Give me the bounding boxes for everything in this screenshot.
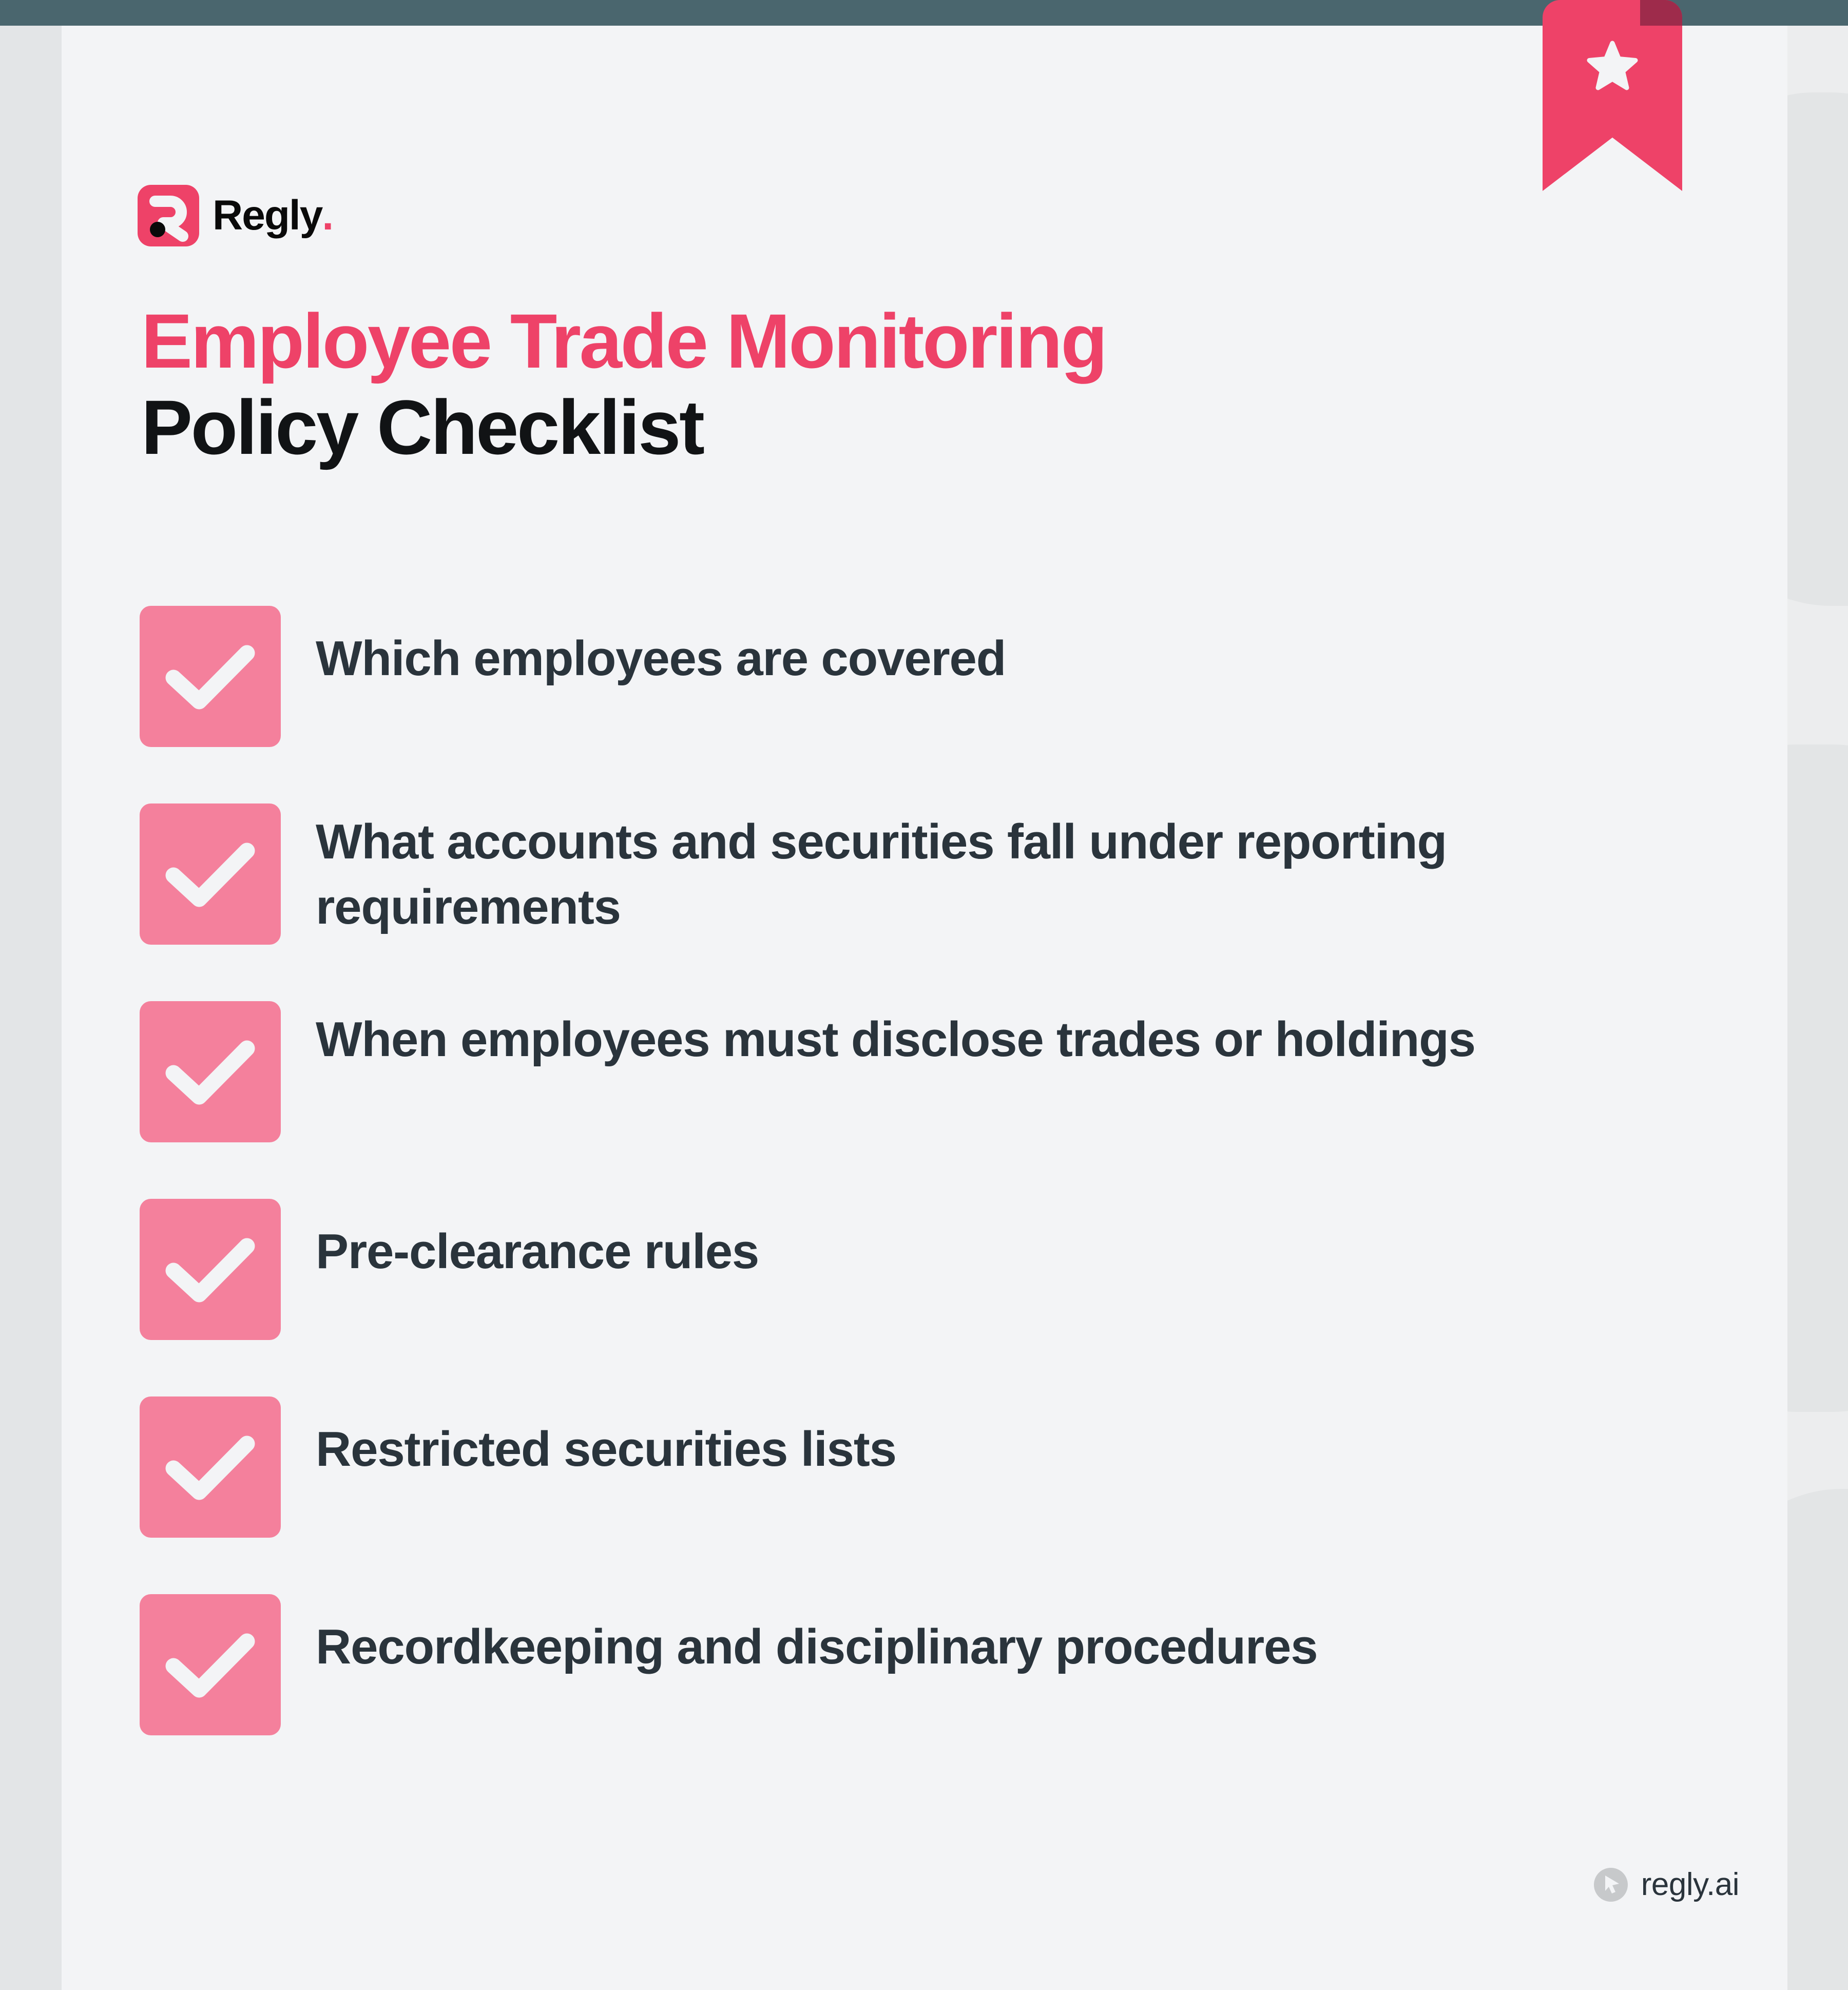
checkbox-checked[interactable] <box>140 803 281 945</box>
title-line-1: Employee Trade Monitoring <box>141 298 1630 384</box>
checkbox-checked[interactable] <box>140 1396 281 1538</box>
check-icon <box>140 606 281 747</box>
star-icon <box>1587 40 1638 91</box>
list-item[interactable]: Pre-clearance rules <box>140 1199 1680 1340</box>
left-edge-strip <box>0 26 62 1990</box>
checklist: Which employees are covered What account… <box>140 606 1680 1735</box>
check-icon <box>140 1594 281 1735</box>
list-item-label: What accounts and securities fall under … <box>316 803 1630 940</box>
brand-wordmark: Regly. <box>213 195 333 237</box>
check-icon <box>140 1199 281 1340</box>
bookmark-icon <box>1543 0 1682 191</box>
brand-dot: . <box>322 195 333 237</box>
page-title: Employee Trade Monitoring Policy Checkli… <box>141 298 1630 470</box>
footer-brand[interactable]: regly.ai <box>1594 1868 1739 1902</box>
cursor-arrow-icon <box>1594 1868 1628 1902</box>
check-icon <box>140 803 281 945</box>
list-item[interactable]: When employees must disclose trades or h… <box>140 1001 1680 1142</box>
brand-name: Regly <box>213 195 322 237</box>
check-icon <box>140 1396 281 1538</box>
list-item-label: Restricted securities lists <box>316 1396 896 1482</box>
bookmark-shadow <box>1640 0 1682 26</box>
regly-r-mark-icon <box>138 185 199 246</box>
list-item-label: Recordkeeping and disciplinary procedure… <box>316 1594 1317 1680</box>
footer-url: regly.ai <box>1641 1869 1739 1901</box>
list-item[interactable]: Which employees are covered <box>140 606 1680 747</box>
list-item[interactable]: Restricted securities lists <box>140 1396 1680 1538</box>
checkbox-checked[interactable] <box>140 606 281 747</box>
checkbox-checked[interactable] <box>140 1199 281 1340</box>
check-icon <box>140 1001 281 1142</box>
list-item-label: Which employees are covered <box>316 606 1006 692</box>
list-item-label: When employees must disclose trades or h… <box>316 1001 1475 1073</box>
list-item-label: Pre-clearance rules <box>316 1199 759 1285</box>
checkbox-checked[interactable] <box>140 1594 281 1735</box>
bookmark-ribbon[interactable] <box>1543 0 1682 191</box>
title-line-2: Policy Checklist <box>141 384 1630 470</box>
checklist-infographic: Regly. Employee Trade Monitoring Policy … <box>0 0 1848 1990</box>
list-item[interactable]: What accounts and securities fall under … <box>140 803 1680 945</box>
list-item[interactable]: Recordkeeping and disciplinary procedure… <box>140 1594 1680 1735</box>
checkbox-checked[interactable] <box>140 1001 281 1142</box>
brand-logo: Regly. <box>138 185 333 246</box>
